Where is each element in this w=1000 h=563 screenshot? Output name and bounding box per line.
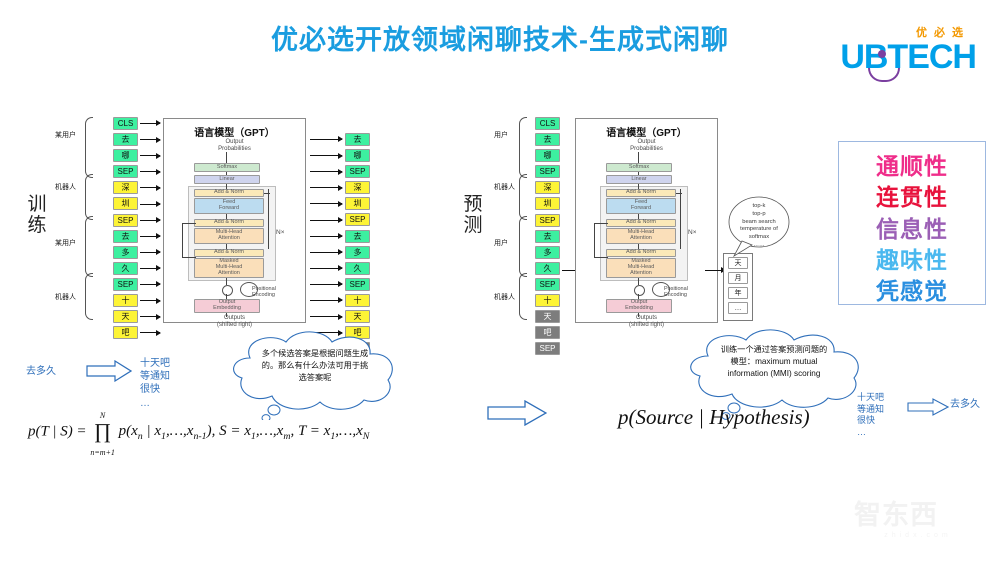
left-input-arrow-10 xyxy=(140,284,160,285)
left-brace-3 xyxy=(85,216,93,277)
softmax-block-left: Softmax xyxy=(194,163,260,172)
right-input-token-13: 吧 xyxy=(535,326,560,339)
left-output-token-2: SEP xyxy=(345,165,370,178)
right-input-token-5: 圳 xyxy=(535,197,560,210)
output-embedding-block-left: OutputEmbedding xyxy=(194,299,260,313)
output-probabilities-label-left: OutputProbabilities xyxy=(164,139,305,153)
linear-block-right: Linear xyxy=(606,175,672,184)
right-input-token-12: 天 xyxy=(535,310,560,323)
result-block-arrow-icon xyxy=(907,398,949,421)
left-speaker-1: 某用户 xyxy=(55,130,76,140)
right-input-token-column: CLS去哪SEP深圳SEP去多久SEP十天吧SEP xyxy=(535,117,560,358)
line-emb-bottom-left xyxy=(226,313,227,317)
right-input-token-11: 十 xyxy=(535,294,560,307)
logo-wordmark: UBTECH xyxy=(840,40,976,74)
left-input-token-0: CLS xyxy=(113,117,138,130)
slide-root: 优必选开放领域闲聊技术-生成式闲聊 优必选 UBTECH 训练 某用户 机器人 … xyxy=(0,0,1000,563)
right-speaker-3: 用户 xyxy=(494,238,508,248)
topk-bubble: top-ktop-pbeam searchtemperature ofsoftm… xyxy=(728,196,790,248)
line-masked-out-right xyxy=(638,278,639,285)
line-linear-addnorm-left xyxy=(226,184,227,189)
cross-attn-h1-left xyxy=(182,223,196,224)
candidate-item-2[interactable]: 年 xyxy=(728,287,748,299)
line-ff-addnorm-left xyxy=(226,214,227,219)
watermark: 智东西 zhidx.com xyxy=(854,493,982,549)
line-emb-bottom-right xyxy=(638,313,639,317)
line-top-right xyxy=(638,152,639,163)
quality-criterion-4: 凭感觉 xyxy=(839,276,985,307)
add-norm-block-3-right: Add & Norm xyxy=(606,249,676,257)
left-answer-list: 十天吧等通知很快… xyxy=(140,357,170,410)
line-masked-out-left xyxy=(226,278,227,285)
left-formula: p(T | S) = N ∏ n=m+1 p(xn | x1,…,xn-1), … xyxy=(28,405,369,459)
right-brace-1 xyxy=(519,117,527,178)
left-answer-1: 等通知 xyxy=(140,370,170,383)
quality-criteria-list: 通顺性连贯性信息性趣味性凭感觉 xyxy=(839,142,985,307)
left-output-arrow-0 xyxy=(310,139,342,140)
right-input-token-9: 久 xyxy=(535,262,560,275)
left-output-token-8: 久 xyxy=(345,262,370,275)
cross-attn-line-left xyxy=(182,223,183,257)
quality-criterion-2: 信息性 xyxy=(839,214,985,245)
right-answer-list: 十天吧等通知很快… xyxy=(857,392,884,439)
ubtech-logo: 优必选 UBTECH xyxy=(816,24,976,86)
right-cloud-line-2: information (MMI) scoring xyxy=(694,368,854,380)
right-brace-2 xyxy=(519,174,527,220)
topk-line-2: beam search xyxy=(728,219,790,227)
left-input-token-2: 哪 xyxy=(113,149,138,162)
left-input-arrow-2 xyxy=(140,155,160,156)
right-cloud-text: 训练一个通过答案预测问题的模型：maximum mutualinformatio… xyxy=(694,344,854,380)
line-top-left xyxy=(226,152,227,163)
line-softmax-linear-left xyxy=(226,172,227,175)
outputs-shifted-right-label-right: Outputs(shifted right) xyxy=(576,315,717,329)
left-output-arrow-11 xyxy=(310,316,342,317)
left-output-token-5: SEP xyxy=(345,213,370,226)
right-input-token-8: 多 xyxy=(535,246,560,259)
left-input-arrow-12 xyxy=(140,316,160,317)
multi-head-attention-block-left: Multi-HeadAttention xyxy=(194,228,264,244)
positional-sum-circle-left xyxy=(222,285,233,296)
left-output-arrow-7 xyxy=(310,252,342,253)
cross-attn-h2-left xyxy=(182,257,196,258)
line-ff-addnorm-right xyxy=(638,214,639,219)
left-cloud-line-2: 选答案呢 xyxy=(240,372,390,384)
line-mha-addnorm-left xyxy=(226,244,227,249)
quality-criterion-0: 通顺性 xyxy=(839,151,985,182)
positional-encoding-label-right: PositionalEncoding xyxy=(664,286,720,299)
left-input-token-4: 深 xyxy=(113,181,138,194)
topk-line-0: top-k xyxy=(728,203,790,211)
right-input-token-4: 深 xyxy=(535,181,560,194)
left-cloud-text: 多个候选答案是根据问题生成的。那么有什么办法可用于挑选答案呢 xyxy=(240,348,390,384)
line-linear-addnorm-right xyxy=(638,184,639,189)
softmax-block-right: Softmax xyxy=(606,163,672,172)
left-query-text: 去多久 xyxy=(26,365,56,378)
left-speaker-2: 机器人 xyxy=(55,182,76,192)
model-diagram-left: 语言模型（GPT）OutputProbabilitiesSoftmaxLinea… xyxy=(163,118,306,323)
residual-h-1-right xyxy=(676,193,682,194)
left-input-arrow-11 xyxy=(140,300,160,301)
right-input-token-10: SEP xyxy=(535,278,560,291)
left-block-arrow-icon xyxy=(86,360,132,387)
right-answer-0: 十天吧 xyxy=(857,392,884,404)
line-circle-emb-left xyxy=(226,294,227,299)
quality-criterion-1: 连贯性 xyxy=(839,182,985,213)
right-formula: p(Source | Hypothesis) xyxy=(618,405,810,430)
right-panel-label: 预测 xyxy=(458,194,488,237)
left-output-token-9: SEP xyxy=(345,278,370,291)
cross-attn-h1-right xyxy=(594,223,608,224)
left-panel-label: 训练 xyxy=(22,194,52,237)
right-brace-4 xyxy=(519,273,527,320)
left-output-arrow-4 xyxy=(310,203,342,204)
candidate-item-3[interactable]: … xyxy=(728,302,748,314)
linear-block-left: Linear xyxy=(194,175,260,184)
candidate-item-1[interactable]: 月 xyxy=(728,272,748,284)
output-embedding-block-right: OutputEmbedding xyxy=(606,299,672,313)
left-output-token-6: 去 xyxy=(345,230,370,243)
feed-forward-block-right: FeedForward xyxy=(606,198,676,214)
watermark-text: 智东西 xyxy=(854,493,982,532)
model-title-left: 语言模型（GPT） xyxy=(164,124,305,139)
right-cloud-line-0: 训练一个通过答案预测问题的 xyxy=(694,344,854,356)
positional-sum-circle-right xyxy=(634,285,645,296)
positional-encoding-label-left: PositionalEncoding xyxy=(252,286,308,299)
multi-head-attention-block-right: Multi-HeadAttention xyxy=(606,228,676,244)
left-formula-pT: p(T | S) = xyxy=(28,423,87,439)
right-brace-3 xyxy=(519,216,527,277)
left-input-token-12: 天 xyxy=(113,310,138,323)
left-input-token-11: 十 xyxy=(113,294,138,307)
left-output-arrow-6 xyxy=(310,236,342,237)
left-output-arrow-3 xyxy=(310,187,342,188)
residual-line-2-right xyxy=(680,219,681,249)
left-input-token-8: 多 xyxy=(113,246,138,259)
model-diagram-right: 语言模型（GPT）OutputProbabilitiesSoftmaxLinea… xyxy=(575,118,718,323)
left-input-arrow-3 xyxy=(140,171,160,172)
right-result-text: 去多久 xyxy=(950,398,980,411)
left-output-arrow-5 xyxy=(310,220,342,221)
nx-label-right: N× xyxy=(688,229,697,236)
quality-criterion-3: 趣味性 xyxy=(839,245,985,276)
output-probabilities-label-right: OutputProbabilities xyxy=(576,139,717,153)
candidate-item-0[interactable]: 天 xyxy=(728,257,748,269)
residual-h-1-left xyxy=(264,193,270,194)
left-input-token-6: SEP xyxy=(113,214,138,227)
topk-line-1: top-p xyxy=(728,211,790,219)
left-output-arrow-1 xyxy=(310,155,342,156)
left-input-token-10: SEP xyxy=(113,278,138,291)
model-title-right: 语言模型（GPT） xyxy=(576,124,717,139)
left-output-token-3: 深 xyxy=(345,181,370,194)
left-brace-1 xyxy=(85,117,93,178)
watermark-subtext: zhidx.com xyxy=(854,532,982,539)
left-input-token-5: 圳 xyxy=(113,197,138,210)
left-output-arrow-10 xyxy=(310,300,342,301)
left-output-token-4: 圳 xyxy=(345,197,370,210)
left-output-token-7: 多 xyxy=(345,246,370,259)
right-input-token-1: 去 xyxy=(535,133,560,146)
line-circle-emb-right xyxy=(638,294,639,299)
left-output-token-10: 十 xyxy=(345,294,370,307)
masked-multi-head-attention-block-left: MaskedMulti-HeadAttention xyxy=(194,258,264,278)
left-input-arrow-1 xyxy=(140,139,160,140)
product-operator: N ∏ n=m+1 xyxy=(90,406,115,460)
right-input-token-3: SEP xyxy=(535,165,560,178)
left-speaker-3: 某用户 xyxy=(55,238,76,248)
right-input-token-0: CLS xyxy=(535,117,560,130)
right-input-token-14: SEP xyxy=(535,342,560,355)
right-input-token-2: 哪 xyxy=(535,149,560,162)
left-brace-4 xyxy=(85,273,93,320)
left-answer-0: 十天吧 xyxy=(140,357,170,370)
right-block-arrow-icon xyxy=(487,400,547,431)
quality-criteria-box: 通顺性连贯性信息性趣味性凭感觉 xyxy=(838,141,986,305)
residual-line-2-left xyxy=(268,219,269,249)
left-input-arrow-7 xyxy=(140,236,160,237)
add-norm-block-2-right: Add & Norm xyxy=(606,219,676,227)
left-input-token-7: 去 xyxy=(113,230,138,243)
right-speaker-4: 机器人 xyxy=(494,292,515,302)
right-input-token-6: SEP xyxy=(535,214,560,227)
left-input-arrow-5 xyxy=(140,204,160,205)
left-input-token-1: 去 xyxy=(113,133,138,146)
left-input-token-9: 久 xyxy=(113,262,138,275)
line-softmax-linear-right xyxy=(638,172,639,175)
left-formula-body: p(xn | x1,…,xn-1), S = x1,…,xm, T = x1,…… xyxy=(119,423,370,439)
left-output-token-column: 去哪SEP深圳SEP去多久SEP十天吧SEP xyxy=(345,133,370,358)
left-thought-cloud: 多个候选答案是根据问题生成的。那么有什么办法可用于挑选答案呢 xyxy=(212,330,412,412)
right-answer-3: … xyxy=(857,427,884,439)
product-lower-limit: n=m+1 xyxy=(90,448,115,457)
left-output-token-0: 去 xyxy=(345,133,370,146)
left-output-token-1: 哪 xyxy=(345,149,370,162)
topk-line-4: softmax xyxy=(728,234,790,242)
left-input-arrow-4 xyxy=(140,187,160,188)
right-thought-cloud: 训练一个通过答案预测问题的模型：maximum mutualinformatio… xyxy=(668,328,878,414)
nx-label-left: N× xyxy=(276,229,285,236)
left-input-token-column: CLS去哪SEP深圳SEP去多久SEP十天吧 xyxy=(113,117,138,342)
topk-line-5: …… xyxy=(728,242,790,250)
topk-bubble-text: top-ktop-pbeam searchtemperature ofsoftm… xyxy=(728,203,790,250)
left-input-token-3: SEP xyxy=(113,165,138,178)
left-input-arrow-6 xyxy=(140,220,160,221)
right-cloud-line-1: 模型：maximum mutual xyxy=(694,356,854,368)
feed-forward-block-left: FeedForward xyxy=(194,198,264,214)
right-input-token-7: 去 xyxy=(535,230,560,243)
outputs-shifted-right-label-left: Outputs(shifted right) xyxy=(164,315,305,329)
add-norm-block-1-right: Add & Norm xyxy=(606,189,676,197)
right-answer-2: 很快 xyxy=(857,415,884,427)
add-norm-block-1-left: Add & Norm xyxy=(194,189,264,197)
logo-dot-icon xyxy=(878,50,886,58)
left-input-token-13: 吧 xyxy=(113,326,138,339)
right-answer-1: 等通知 xyxy=(857,404,884,416)
left-output-token-11: 天 xyxy=(345,310,370,323)
left-input-arrow-9 xyxy=(140,268,160,269)
cross-attn-h2-right xyxy=(594,257,608,258)
left-input-arrow-13 xyxy=(140,332,160,333)
add-norm-block-2-left: Add & Norm xyxy=(194,219,264,227)
line-mha-addnorm-right xyxy=(638,244,639,249)
left-cloud-line-1: 的。那么有什么办法可用于挑 xyxy=(240,360,390,372)
product-symbol: ∏ xyxy=(94,419,111,443)
cross-attn-line-right xyxy=(594,223,595,257)
left-output-arrow-2 xyxy=(310,171,342,172)
masked-multi-head-attention-block-right: MaskedMulti-HeadAttention xyxy=(606,258,676,278)
left-speaker-4: 机器人 xyxy=(55,292,76,302)
left-output-arrow-8 xyxy=(310,268,342,269)
candidate-arrow xyxy=(705,270,725,271)
right-speaker-2: 机器人 xyxy=(494,182,515,192)
left-input-arrow-0 xyxy=(140,123,160,124)
candidate-list: 天月年… xyxy=(723,253,753,321)
left-input-arrow-8 xyxy=(140,252,160,253)
left-brace-2 xyxy=(85,174,93,220)
topk-line-3: temperature of xyxy=(728,226,790,234)
left-cloud-line-0: 多个候选答案是根据问题生成 xyxy=(240,348,390,360)
logo-smile-icon xyxy=(868,68,900,82)
left-answer-2: 很快 xyxy=(140,383,170,396)
right-speaker-1: 用户 xyxy=(494,130,508,140)
add-norm-block-3-left: Add & Norm xyxy=(194,249,264,257)
left-output-arrow-9 xyxy=(310,284,342,285)
